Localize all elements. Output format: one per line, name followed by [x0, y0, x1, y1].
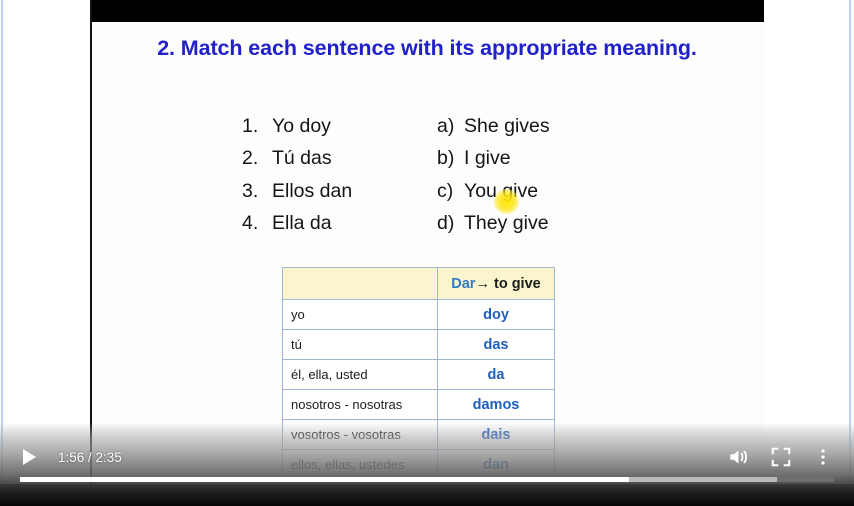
english-phrase: I give — [464, 147, 511, 170]
match-row: 1. Yo doy a) She gives — [90, 110, 764, 143]
conjugated-form-cell: das — [438, 330, 555, 360]
pronoun-cell: él, ella, usted — [283, 360, 438, 390]
english-phrase: She gives — [464, 115, 550, 138]
verb-translation: to give — [494, 276, 541, 292]
conjugated-form-cell: damos — [438, 390, 555, 420]
list-marker: 2. — [242, 147, 272, 170]
table-header-row: Dar→ to give — [283, 268, 555, 300]
pronoun-cell: nosotros - nosotras — [283, 390, 438, 420]
verb-infinitive: Dar — [451, 276, 475, 292]
table-row: nosotros - nosotras damos — [283, 390, 555, 420]
list-marker: b) — [437, 147, 464, 170]
list-marker: d) — [437, 212, 464, 235]
video-page: 2. Match each sentence with its appropri… — [0, 0, 854, 506]
match-right-item-c: c) You give — [437, 180, 667, 203]
list-marker: 3. — [242, 180, 272, 203]
more-options-button[interactable] — [802, 442, 844, 472]
progress-bar-played — [20, 477, 629, 482]
english-phrase: They give — [464, 212, 549, 235]
spanish-phrase: Yo doy — [272, 115, 331, 138]
fullscreen-icon — [770, 446, 792, 468]
table-row: él, ella, usted da — [283, 360, 555, 390]
conjugated-form-cell: doy — [438, 300, 555, 330]
match-left-item-1: 1. Yo doy — [242, 115, 437, 138]
match-left-item-2: 2. Tú das — [242, 147, 437, 170]
player-controls-right — [718, 442, 844, 472]
match-row: 3. Ellos dan c) You give — [90, 175, 764, 208]
kebab-menu-icon — [813, 446, 833, 468]
match-right-item-b: b) I give — [437, 147, 667, 170]
table-header-verb: Dar→ to give — [438, 268, 555, 300]
match-right-item-a: a) She gives — [437, 115, 667, 138]
progress-bar-track[interactable] — [20, 477, 834, 482]
table-header-blank — [283, 268, 438, 300]
pronoun-cell: yo — [283, 300, 438, 330]
pronoun-cell: tú — [283, 330, 438, 360]
play-icon — [23, 449, 36, 465]
conjugated-form-cell: da — [438, 360, 555, 390]
player-controls-left: 1:56 / 2:35 — [0, 442, 122, 472]
match-right-item-d: d) They give — [437, 212, 667, 235]
match-left-item-3: 3. Ellos dan — [242, 180, 437, 203]
letterbox-top-bar — [90, 0, 764, 22]
matching-exercise: 1. Yo doy a) She gives 2. Tú das b) — [90, 110, 764, 240]
match-row: 2. Tú das b) I give — [90, 143, 764, 176]
slide-title: 2. Match each sentence with its appropri… — [120, 34, 734, 62]
english-phrase: You give — [464, 180, 538, 203]
volume-button[interactable] — [718, 442, 760, 472]
play-button[interactable] — [8, 442, 50, 472]
list-marker: 1. — [242, 115, 272, 138]
match-left-item-4: 4. Ella da — [242, 212, 437, 235]
time-display: 1:56 / 2:35 — [58, 450, 122, 465]
spanish-phrase: Tú das — [272, 147, 332, 170]
volume-icon — [726, 444, 752, 470]
list-marker: a) — [437, 115, 464, 138]
player-control-bar[interactable]: 1:56 / 2:35 — [0, 424, 854, 506]
spanish-phrase: Ella da — [272, 212, 332, 235]
fullscreen-button[interactable] — [760, 442, 802, 472]
match-row: 4. Ella da d) They give — [90, 208, 764, 241]
list-marker: c) — [437, 180, 464, 203]
spanish-phrase: Ellos dan — [272, 180, 352, 203]
list-marker: 4. — [242, 212, 272, 235]
table-row: tú das — [283, 330, 555, 360]
table-row: yo doy — [283, 300, 555, 330]
arrow-icon: → — [475, 276, 490, 292]
